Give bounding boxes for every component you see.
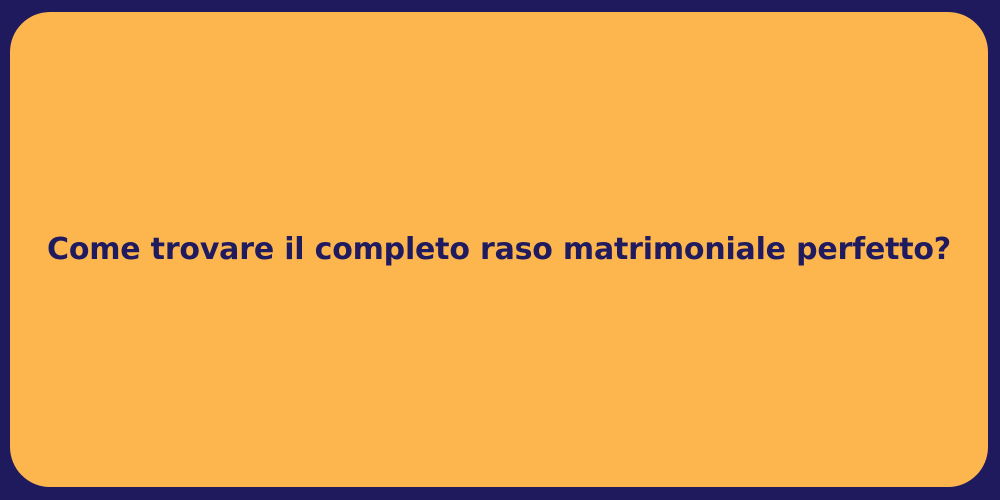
headline-text: Come trovare il completo raso matrimonia… [10, 232, 988, 268]
rounded-card-panel: Come trovare il completo raso matrimonia… [10, 12, 988, 487]
banner-frame: Come trovare il completo raso matrimonia… [0, 0, 1000, 500]
